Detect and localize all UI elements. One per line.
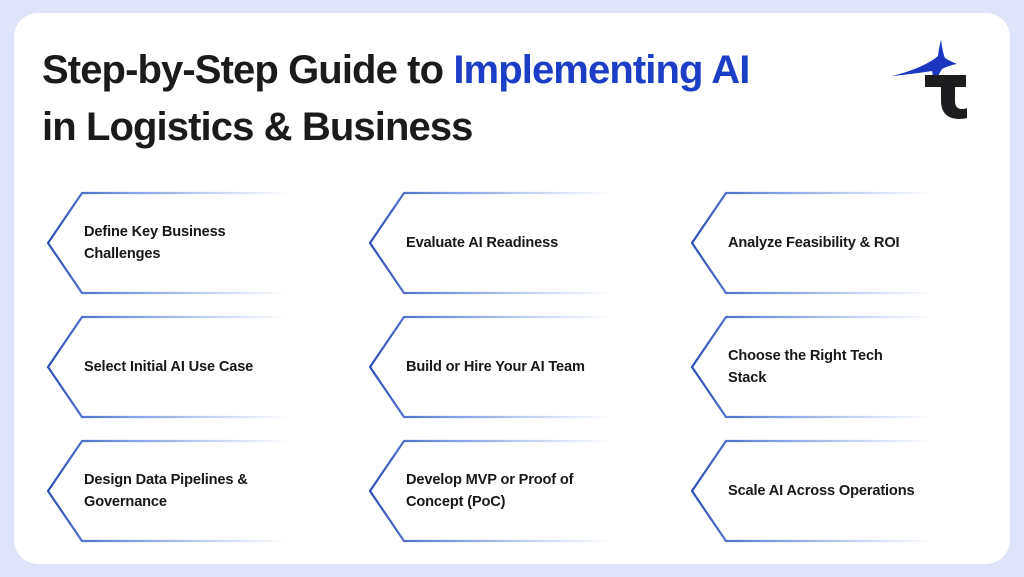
tau-star-logo-icon <box>888 39 974 119</box>
slide-header: Step-by-Step Guide to Implementing AIin … <box>14 13 1010 173</box>
step-label: Analyze Feasibility & ROI <box>728 191 976 295</box>
step-label: Choose the Right Tech Stack <box>728 315 976 419</box>
step-card[interactable]: Build or Hire Your AI Team <box>364 315 680 419</box>
page-title-line2: in Logistics & Business <box>42 105 473 149</box>
page-title-highlight: Implementing AI <box>453 48 749 92</box>
step-card[interactable]: Select Initial AI Use Case <box>42 315 358 419</box>
step-label: Build or Hire Your AI Team <box>406 315 654 419</box>
step-card[interactable]: Design Data Pipelines & Governance <box>42 439 358 543</box>
step-label: Scale AI Across Operations <box>728 439 976 543</box>
step-card[interactable]: Evaluate AI Readiness <box>364 191 680 295</box>
step-label: Design Data Pipelines & Governance <box>84 439 332 543</box>
steps-grid: Define Key Business Challenges Evaluate … <box>42 191 982 551</box>
step-card[interactable]: Choose the Right Tech Stack <box>686 315 1002 419</box>
step-label: Evaluate AI Readiness <box>406 191 654 295</box>
step-card[interactable]: Develop MVP or Proof of Concept (PoC) <box>364 439 680 543</box>
step-card[interactable]: Analyze Feasibility & ROI <box>686 191 1002 295</box>
page-title-plain: Step-by-Step Guide to <box>42 48 453 92</box>
step-label: Select Initial AI Use Case <box>84 315 332 419</box>
step-card[interactable]: Define Key Business Challenges <box>42 191 358 295</box>
page-title: Step-by-Step Guide to Implementing AIin … <box>42 42 852 156</box>
step-label: Develop MVP or Proof of Concept (PoC) <box>406 439 654 543</box>
slide-panel: Step-by-Step Guide to Implementing AIin … <box>14 13 1010 564</box>
step-label: Define Key Business Challenges <box>84 191 332 295</box>
step-card[interactable]: Scale AI Across Operations <box>686 439 1002 543</box>
